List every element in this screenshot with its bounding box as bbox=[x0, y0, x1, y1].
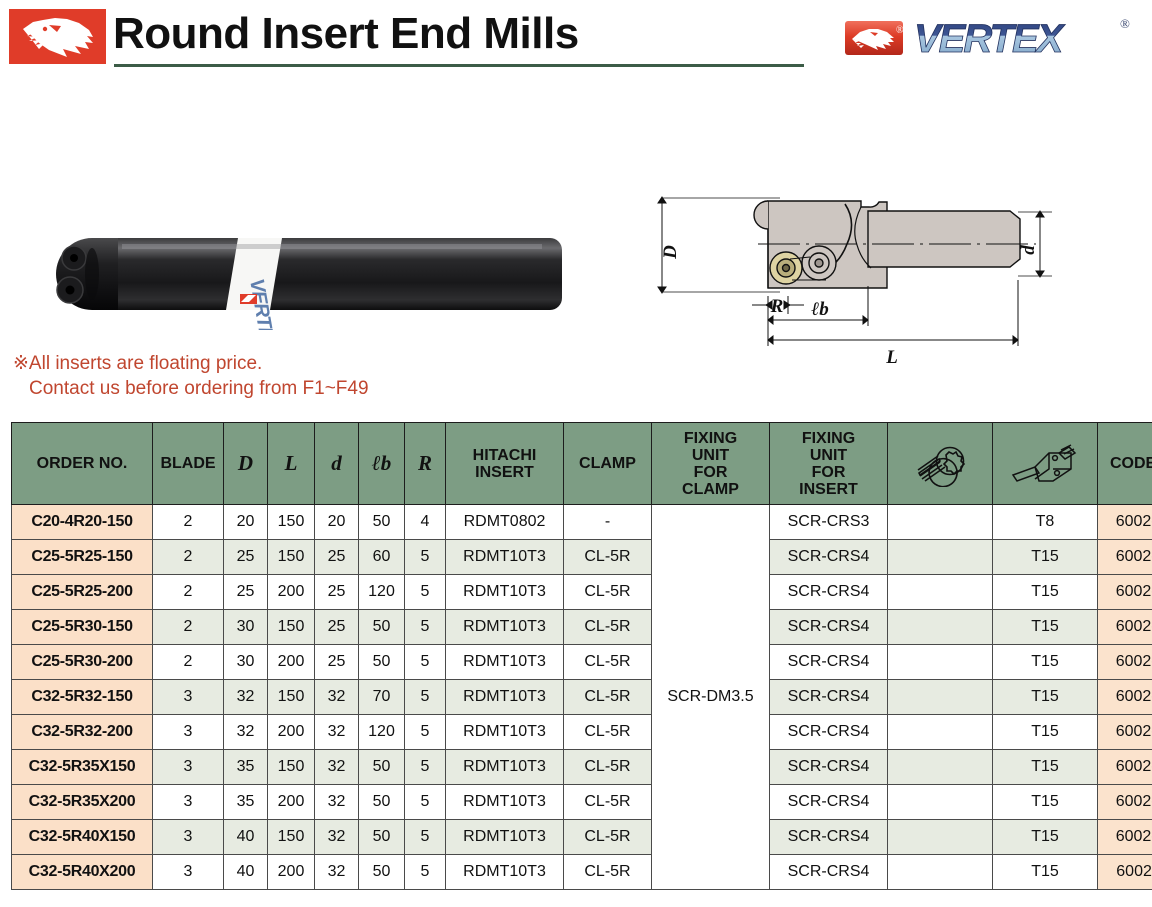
cell-clamp: CL-5R bbox=[564, 575, 652, 610]
cell-blade: 3 bbox=[153, 855, 224, 890]
table-row[interactable]: C32-5R32-150 3 32 150 32 70 5 RDMT10T3 C… bbox=[12, 680, 1152, 715]
cell-D: 30 bbox=[224, 645, 268, 680]
cell-d: 25 bbox=[315, 645, 359, 680]
cell-screw bbox=[888, 715, 993, 750]
cell-hitachi-insert: RDMT10T3 bbox=[446, 715, 564, 750]
cell-lb: 120 bbox=[359, 575, 405, 610]
torx-wrench-icon bbox=[993, 423, 1098, 505]
cell-hitachi-insert: RDMT10T3 bbox=[446, 820, 564, 855]
table-row[interactable]: C20-4R20-150 2 20 150 20 50 4 RDMT0802 -… bbox=[12, 505, 1152, 540]
cell-clamp: CL-5R bbox=[564, 680, 652, 715]
cell-R: 5 bbox=[405, 680, 446, 715]
cell-R: 5 bbox=[405, 715, 446, 750]
cell-code-no: 6002-005 bbox=[1098, 645, 1152, 680]
cell-clamp: CL-5R bbox=[564, 820, 652, 855]
table-row[interactable]: C25-5R30-150 2 30 150 25 50 5 RDMT10T3 C… bbox=[12, 610, 1152, 645]
cell-D: 35 bbox=[224, 785, 268, 820]
cell-D: 32 bbox=[224, 680, 268, 715]
cell-hitachi-insert: RDMT10T3 bbox=[446, 575, 564, 610]
cell-L: 150 bbox=[268, 820, 315, 855]
cell-d: 32 bbox=[315, 750, 359, 785]
cell-lb: 50 bbox=[359, 645, 405, 680]
cell-lb: 50 bbox=[359, 750, 405, 785]
col-header-fixing-unit-for-insert: FIXINGUNITFORINSERT bbox=[770, 423, 888, 505]
cell-hitachi-insert: RDMT0802 bbox=[446, 505, 564, 540]
cell-L: 200 bbox=[268, 575, 315, 610]
cell-screw bbox=[888, 575, 993, 610]
cell-lb: 70 bbox=[359, 680, 405, 715]
cell-blade: 2 bbox=[153, 575, 224, 610]
cell-d: 20 bbox=[315, 505, 359, 540]
svg-text:VERTEX: VERTEX bbox=[914, 17, 1066, 61]
cell-lb: 50 bbox=[359, 855, 405, 890]
cell-d: 32 bbox=[315, 820, 359, 855]
cell-order-no: C20-4R20-150 bbox=[12, 505, 153, 540]
cell-wrench: T15 bbox=[993, 855, 1098, 890]
cell-lb: 50 bbox=[359, 505, 405, 540]
cell-clamp: CL-5R bbox=[564, 785, 652, 820]
cell-d: 25 bbox=[315, 610, 359, 645]
dim-label-D: D bbox=[660, 245, 681, 260]
col-header-blade: BLADE bbox=[153, 423, 224, 505]
vertex-logo: ® VERTEX ® bbox=[840, 8, 1140, 66]
cell-R: 5 bbox=[405, 750, 446, 785]
cell-lb: 50 bbox=[359, 610, 405, 645]
cell-order-no: C25-5R30-150 bbox=[12, 610, 153, 645]
cell-clamp: CL-5R bbox=[564, 645, 652, 680]
cell-hitachi-insert: RDMT10T3 bbox=[446, 610, 564, 645]
cell-D: 40 bbox=[224, 855, 268, 890]
cell-hitachi-insert: RDMT10T3 bbox=[446, 680, 564, 715]
dim-label-R: R bbox=[770, 296, 784, 317]
cell-wrench: T15 bbox=[993, 645, 1098, 680]
cell-wrench: T15 bbox=[993, 820, 1098, 855]
cell-D: 32 bbox=[224, 715, 268, 750]
table-row[interactable]: C32-5R35X200 3 35 200 32 50 5 RDMT10T3 C… bbox=[12, 785, 1152, 820]
cell-hitachi-insert: RDMT10T3 bbox=[446, 750, 564, 785]
cell-code-no: 6002-011 bbox=[1098, 855, 1152, 890]
cell-hitachi-insert: RDMT10T3 bbox=[446, 645, 564, 680]
cell-D: 25 bbox=[224, 540, 268, 575]
cell-L: 150 bbox=[268, 750, 315, 785]
cell-hitachi-insert: RDMT10T3 bbox=[446, 785, 564, 820]
col-header-fixing-unit-for-clamp: FIXINGUNITFORCLAMP bbox=[652, 423, 770, 505]
svg-text:®: ® bbox=[896, 25, 904, 36]
dim-label-d: d bbox=[1018, 245, 1039, 255]
cell-wrench: T15 bbox=[993, 540, 1098, 575]
cell-lb: 50 bbox=[359, 785, 405, 820]
cell-blade: 3 bbox=[153, 715, 224, 750]
col-header-d: d bbox=[315, 423, 359, 505]
cell-order-no: C25-5R25-150 bbox=[12, 540, 153, 575]
cell-d: 32 bbox=[315, 855, 359, 890]
cell-fixing-unit-for-insert: SCR-CRS4 bbox=[770, 855, 888, 890]
cell-fixing-unit-for-insert: SCR-CRS4 bbox=[770, 750, 888, 785]
cell-D: 25 bbox=[224, 575, 268, 610]
torx-screw-icon bbox=[888, 423, 993, 505]
cell-code-no: 6002-010 bbox=[1098, 820, 1152, 855]
cell-d: 25 bbox=[315, 575, 359, 610]
cell-L: 150 bbox=[268, 540, 315, 575]
cell-fixing-unit-for-insert: SCR-CRS3 bbox=[770, 505, 888, 540]
cell-L: 150 bbox=[268, 505, 315, 540]
cell-D: 35 bbox=[224, 750, 268, 785]
cell-L: 200 bbox=[268, 785, 315, 820]
cell-clamp: CL-5R bbox=[564, 610, 652, 645]
cell-wrench: T15 bbox=[993, 575, 1098, 610]
cell-lb: 60 bbox=[359, 540, 405, 575]
cell-L: 150 bbox=[268, 610, 315, 645]
cell-order-no: C32-5R35X150 bbox=[12, 750, 153, 785]
note-line-1: All inserts are floating price. bbox=[29, 353, 262, 374]
cell-screw bbox=[888, 820, 993, 855]
table-row[interactable]: C32-5R35X150 3 35 150 32 50 5 RDMT10T3 C… bbox=[12, 750, 1152, 785]
cell-clamp: CL-5R bbox=[564, 750, 652, 785]
table-row[interactable]: C25-5R25-150 2 25 150 25 60 5 RDMT10T3 C… bbox=[12, 540, 1152, 575]
cell-wrench: T8 bbox=[993, 505, 1098, 540]
eagle-head-icon bbox=[9, 9, 106, 64]
cell-order-no: C32-5R32-200 bbox=[12, 715, 153, 750]
cell-blade: 2 bbox=[153, 540, 224, 575]
table-header-row: ORDER NO. BLADE D L d ℓb R HITACHIINSERT… bbox=[12, 423, 1152, 505]
specification-table: ORDER NO. BLADE D L d ℓb R HITACHIINSERT… bbox=[11, 422, 1152, 890]
cell-code-no: 6002-007 bbox=[1098, 715, 1152, 750]
cell-fixing-unit-for-insert: SCR-CRS4 bbox=[770, 610, 888, 645]
cell-wrench: T15 bbox=[993, 750, 1098, 785]
cell-d: 25 bbox=[315, 540, 359, 575]
cell-fixing-unit-for-insert: SCR-CRS4 bbox=[770, 575, 888, 610]
cell-clamp: - bbox=[564, 505, 652, 540]
cell-screw bbox=[888, 610, 993, 645]
cell-code-no: 6002-002 bbox=[1098, 540, 1152, 575]
cell-d: 32 bbox=[315, 715, 359, 750]
cell-L: 150 bbox=[268, 680, 315, 715]
cell-fixing-unit-for-insert: SCR-CRS4 bbox=[770, 680, 888, 715]
cell-R: 5 bbox=[405, 855, 446, 890]
col-header-D: D bbox=[224, 423, 268, 505]
table-row[interactable]: C32-5R32-200 3 32 200 32 120 5 RDMT10T3 … bbox=[12, 715, 1152, 750]
col-header-order-no: ORDER NO. bbox=[12, 423, 153, 505]
col-header-code-no: CODE NO. bbox=[1098, 423, 1152, 505]
cell-code-no: 6002-006 bbox=[1098, 680, 1152, 715]
cell-order-no: C32-5R35X200 bbox=[12, 785, 153, 820]
cell-blade: 3 bbox=[153, 680, 224, 715]
cell-fixing-unit-for-insert: SCR-CRS4 bbox=[770, 540, 888, 575]
table-row[interactable]: C32-5R40X150 3 40 150 32 50 5 RDMT10T3 C… bbox=[12, 820, 1152, 855]
cell-order-no: C32-5R40X200 bbox=[12, 855, 153, 890]
dim-label-lb: ℓb bbox=[811, 299, 829, 320]
cell-lb: 120 bbox=[359, 715, 405, 750]
cell-D: 20 bbox=[224, 505, 268, 540]
table-row[interactable]: C25-5R30-200 2 30 200 25 50 5 RDMT10T3 C… bbox=[12, 645, 1152, 680]
cell-d: 32 bbox=[315, 785, 359, 820]
cell-R: 4 bbox=[405, 505, 446, 540]
cell-L: 200 bbox=[268, 855, 315, 890]
table-row[interactable]: C25-5R25-200 2 25 200 25 120 5 RDMT10T3 … bbox=[12, 575, 1152, 610]
col-header-clamp: CLAMP bbox=[564, 423, 652, 505]
cell-fixing-unit-for-clamp: SCR-DM3.5 bbox=[652, 505, 770, 890]
cell-R: 5 bbox=[405, 610, 446, 645]
col-header-hitachi-insert: HITACHIINSERT bbox=[446, 423, 564, 505]
cell-fixing-unit-for-insert: SCR-CRS4 bbox=[770, 645, 888, 680]
cell-screw bbox=[888, 855, 993, 890]
title-divider bbox=[114, 64, 804, 67]
cell-screw bbox=[888, 680, 993, 715]
cell-blade: 3 bbox=[153, 750, 224, 785]
cell-R: 5 bbox=[405, 575, 446, 610]
dim-label-L: L bbox=[885, 347, 898, 368]
cell-screw bbox=[888, 750, 993, 785]
product-photo: VERTEX bbox=[22, 218, 582, 330]
cell-wrench: T15 bbox=[993, 715, 1098, 750]
cell-wrench: T15 bbox=[993, 680, 1098, 715]
table-row[interactable]: C32-5R40X200 3 40 200 32 50 5 RDMT10T3 C… bbox=[12, 855, 1152, 890]
svg-text:®: ® bbox=[1120, 16, 1130, 31]
cell-screw bbox=[888, 505, 993, 540]
cell-clamp: CL-5R bbox=[564, 540, 652, 575]
cell-fixing-unit-for-insert: SCR-CRS4 bbox=[770, 785, 888, 820]
cell-clamp: CL-5R bbox=[564, 715, 652, 750]
cell-code-no: 6002-009 bbox=[1098, 785, 1152, 820]
note-line-2: Contact us before ordering from F1~F49 bbox=[13, 376, 369, 401]
cell-R: 5 bbox=[405, 820, 446, 855]
cell-blade: 2 bbox=[153, 610, 224, 645]
cell-wrench: T15 bbox=[993, 610, 1098, 645]
cell-code-no: 6002-008 bbox=[1098, 750, 1152, 785]
cell-screw bbox=[888, 785, 993, 820]
cell-R: 5 bbox=[405, 540, 446, 575]
specification-table-wrapper: ORDER NO. BLADE D L d ℓb R HITACHIINSERT… bbox=[11, 422, 1141, 890]
cell-hitachi-insert: RDMT10T3 bbox=[446, 540, 564, 575]
cell-screw bbox=[888, 645, 993, 680]
cell-d: 32 bbox=[315, 680, 359, 715]
cell-screw bbox=[888, 540, 993, 575]
pricing-note: ※All inserts are floating price. Contact… bbox=[13, 351, 369, 401]
col-header-lb: ℓb bbox=[359, 423, 405, 505]
cell-code-no: 6002-004 bbox=[1098, 610, 1152, 645]
cell-code-no: 6002-001 bbox=[1098, 505, 1152, 540]
cell-fixing-unit-for-insert: SCR-CRS4 bbox=[770, 820, 888, 855]
cell-D: 40 bbox=[224, 820, 268, 855]
cell-wrench: T15 bbox=[993, 785, 1098, 820]
cell-blade: 2 bbox=[153, 645, 224, 680]
cell-D: 30 bbox=[224, 610, 268, 645]
page-header: Round Insert End Mills bbox=[0, 0, 1152, 78]
cell-L: 200 bbox=[268, 715, 315, 750]
page-title: Round Insert End Mills bbox=[113, 6, 579, 62]
cell-L: 200 bbox=[268, 645, 315, 680]
col-header-R: R bbox=[405, 423, 446, 505]
cell-lb: 50 bbox=[359, 820, 405, 855]
cell-order-no: C25-5R30-200 bbox=[12, 645, 153, 680]
col-header-L: L bbox=[268, 423, 315, 505]
cell-fixing-unit-for-insert: SCR-CRS4 bbox=[770, 715, 888, 750]
note-marker: ※ bbox=[13, 353, 29, 374]
cell-R: 5 bbox=[405, 645, 446, 680]
cell-R: 5 bbox=[405, 785, 446, 820]
cell-blade: 3 bbox=[153, 820, 224, 855]
cell-hitachi-insert: RDMT10T3 bbox=[446, 855, 564, 890]
cell-order-no: C25-5R25-200 bbox=[12, 575, 153, 610]
cell-code-no: 6002-003 bbox=[1098, 575, 1152, 610]
table-body: C20-4R20-150 2 20 150 20 50 4 RDMT0802 -… bbox=[12, 505, 1152, 890]
cell-clamp: CL-5R bbox=[564, 855, 652, 890]
cell-order-no: C32-5R40X150 bbox=[12, 820, 153, 855]
cell-order-no: C32-5R32-150 bbox=[12, 680, 153, 715]
dimension-drawing: D d R ℓb L bbox=[640, 168, 1145, 368]
cell-blade: 3 bbox=[153, 785, 224, 820]
cell-blade: 2 bbox=[153, 505, 224, 540]
